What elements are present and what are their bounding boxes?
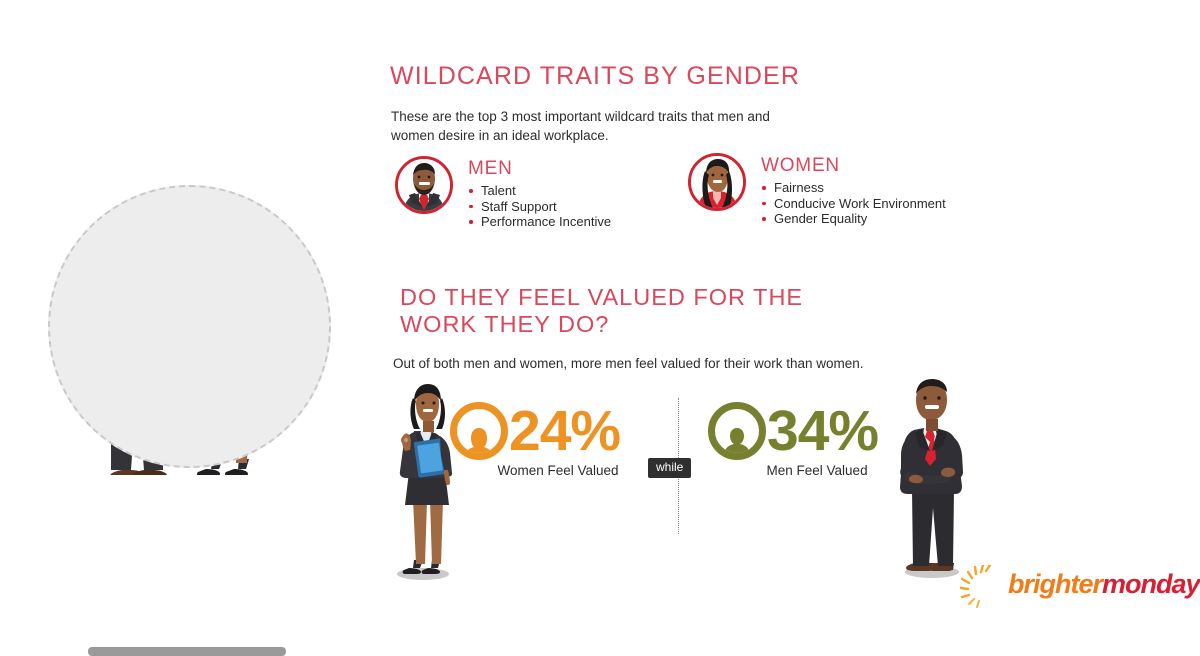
traits-subtitle: These are the top 3 most important wildc… (391, 107, 791, 145)
stat-men: 34% Men Feel Valued (708, 402, 878, 478)
stat-women-row: 24% (450, 402, 620, 460)
infographic-canvas: WILDCARD TRAITS BY GENDER These are the … (0, 0, 1200, 630)
valued-heading: DO THEY FEEL VALUED FOR THE WORK THEY DO… (400, 284, 830, 338)
sunburst-icon (960, 565, 1008, 609)
list-item: Performance Incentive (468, 214, 611, 230)
women-text-group: WOMEN Fairness Conducive Work Environmen… (761, 155, 946, 227)
illustration-ground-shadow (88, 647, 286, 656)
valued-subtitle: Out of both men and women, more men feel… (393, 356, 864, 371)
list-item: Conducive Work Environment (761, 196, 946, 212)
brightermonday-logo[interactable]: brightermonday (960, 565, 1200, 613)
while-badge: while (648, 458, 691, 478)
men-text-group: MEN Talent Staff Support Performance Inc… (468, 158, 611, 230)
male-silhouette-icon (708, 402, 766, 460)
man-avatar-icon (395, 156, 453, 214)
list-item: Staff Support (468, 199, 611, 215)
logo-text-brighter: brighter (1008, 569, 1102, 599)
woman-with-clipboard-illustration (385, 378, 460, 583)
stat-women-caption: Women Feel Valued (496, 463, 620, 478)
traits-heading: WILDCARD TRAITS BY GENDER (390, 62, 800, 91)
men-title: MEN (468, 158, 611, 180)
logo-text-monday: monday (1102, 569, 1200, 599)
stat-men-caption: Men Feel Valued (756, 463, 878, 478)
stat-women-value: 24% (509, 405, 620, 457)
list-item: Fairness (761, 180, 946, 196)
men-traits-list: Talent Staff Support Performance Incenti… (468, 183, 611, 230)
list-item: Talent (468, 183, 611, 199)
woman-avatar-icon (688, 153, 746, 211)
logo-wordmark: brightermonday (1008, 569, 1200, 599)
content-column: WILDCARD TRAITS BY GENDER These are the … (390, 0, 1200, 630)
list-item: Gender Equality (761, 211, 946, 227)
stat-men-row: 34% (708, 402, 878, 460)
man-arms-crossed-illustration (890, 372, 975, 582)
women-title: WOMEN (761, 155, 946, 177)
illustration-backdrop-circle (48, 185, 331, 468)
female-silhouette-icon (450, 402, 508, 460)
stat-women: 24% Women Feel Valued (450, 402, 620, 478)
stat-men-value: 34% (767, 405, 878, 457)
handshake-illustration (48, 185, 333, 475)
women-traits-list: Fairness Conducive Work Environment Gend… (761, 180, 946, 227)
